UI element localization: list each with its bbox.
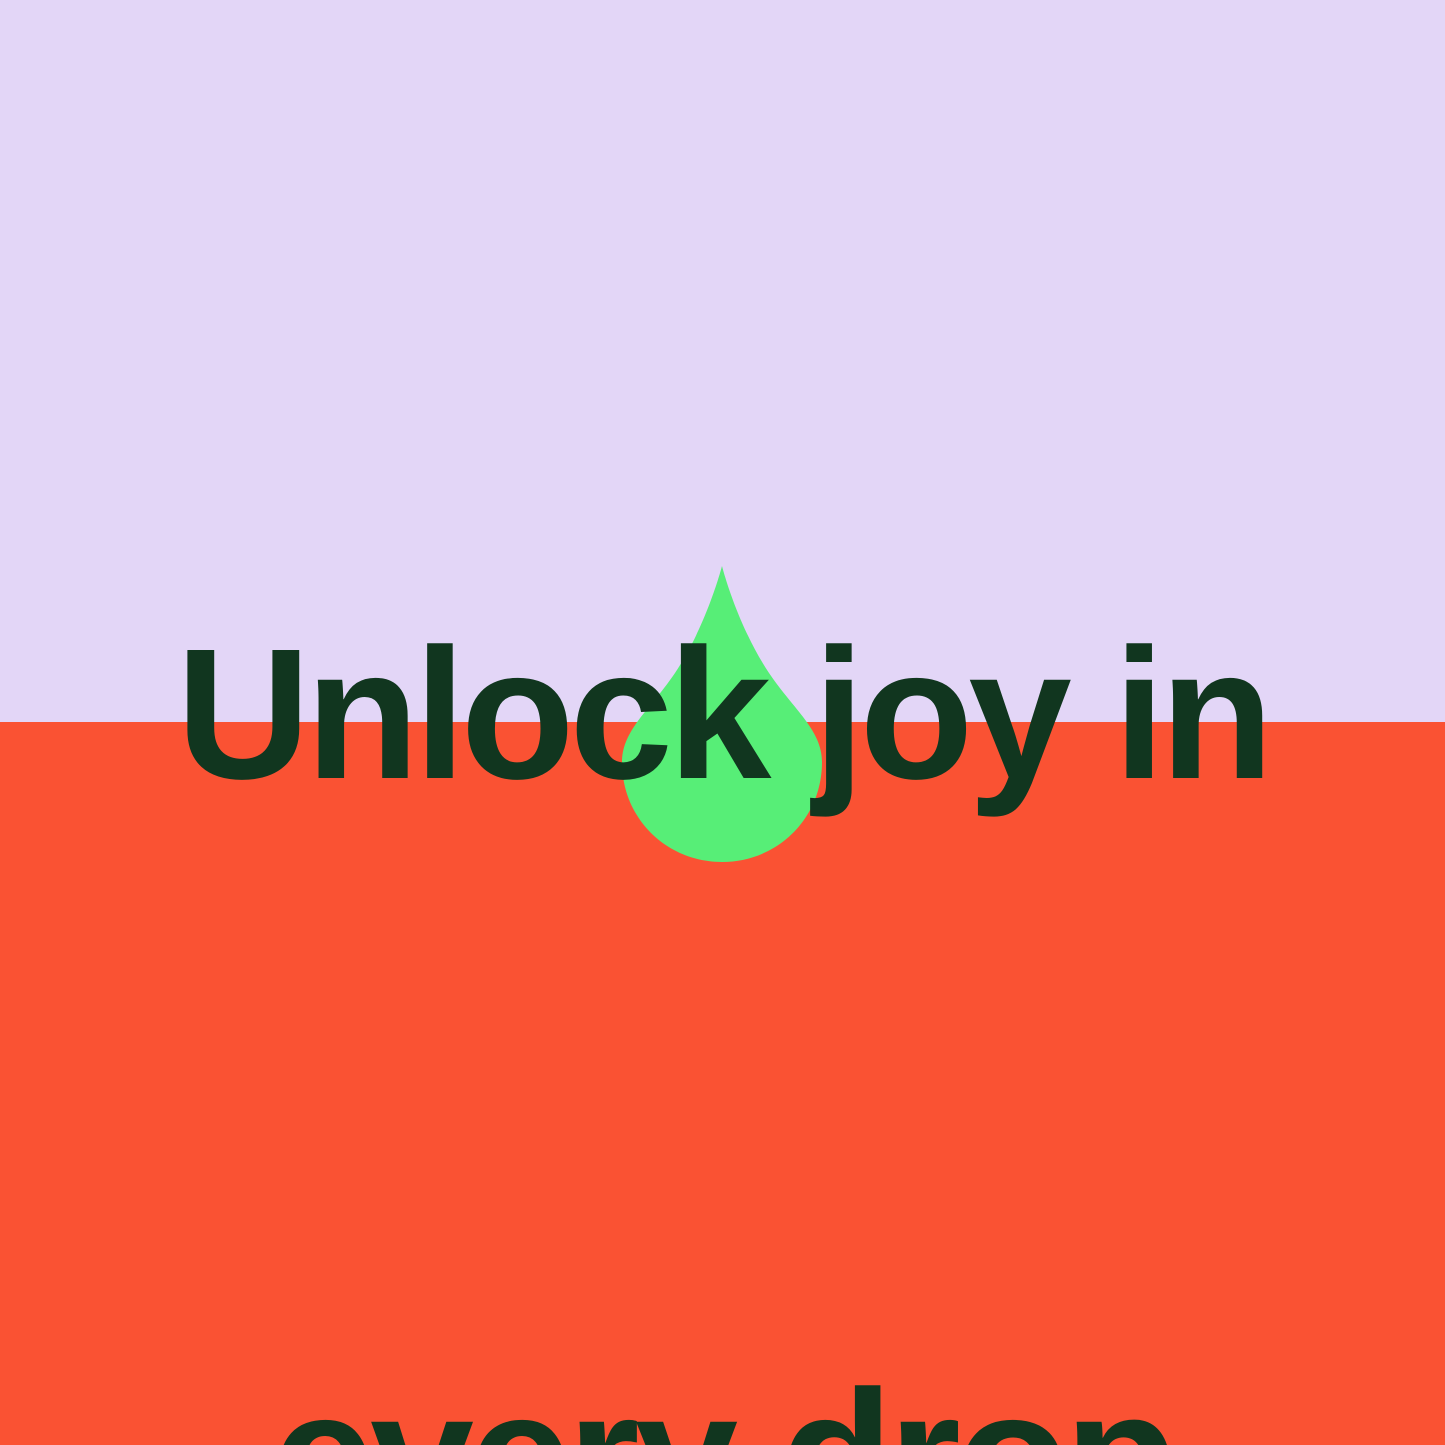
tagline-line-1: Plant-based xyxy=(0,1420,1445,1445)
promo-poster: Unlock joy in every drop Plant-based eve… xyxy=(0,0,1445,1445)
headline-line-1: Unlock joy in xyxy=(0,591,1445,838)
tagline: Plant-based everyday bliss xyxy=(0,908,1445,1445)
